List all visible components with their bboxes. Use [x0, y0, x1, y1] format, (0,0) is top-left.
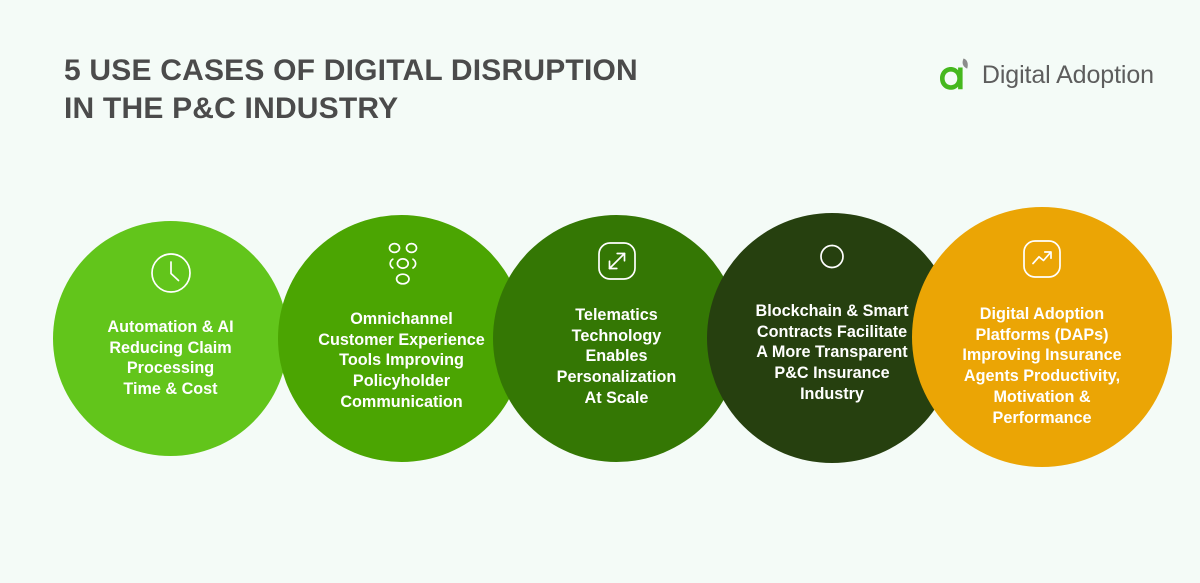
use-case-label-line: Agents Productivity, — [962, 366, 1121, 387]
expand-arrows-icon — [595, 239, 639, 288]
use-case-label-line: At Scale — [557, 388, 677, 409]
use-case-label-line: Platforms (DAPs) — [962, 325, 1121, 346]
use-case-label-5: Digital Adoption Platforms (DAPs) Improv… — [962, 304, 1121, 428]
use-case-label-line: Reducing Claim — [107, 338, 233, 359]
people-group-icon — [378, 241, 426, 292]
use-case-label-line: Customer Experience — [318, 330, 484, 351]
use-case-label-2: Omnichannel Customer Experience Tools Im… — [318, 309, 484, 413]
use-case-label-line: Automation & AI — [107, 317, 233, 338]
use-case-label-line: Time & Cost — [107, 379, 233, 400]
use-case-label-line: Performance — [962, 408, 1121, 429]
use-case-circle-1[interactable]: Automation & AI Reducing Claim Processin… — [53, 221, 288, 456]
use-case-circle-3[interactable]: Telematics Technology Enables Personaliz… — [493, 215, 740, 462]
use-case-label-line: Enables — [557, 346, 677, 367]
use-case-label-line: Policyholder — [318, 371, 484, 392]
use-case-label-line: Improving Insurance — [962, 345, 1121, 366]
use-case-label-line: Blockchain & Smart — [756, 301, 909, 322]
clock-icon — [149, 251, 193, 300]
use-case-label-line: Telematics — [557, 305, 677, 326]
use-case-label-line: Technology — [557, 326, 677, 347]
use-case-label-line: Personalization — [557, 367, 677, 388]
use-case-label-4: Blockchain & Smart Contracts Facilitate … — [756, 301, 909, 405]
infographic-page: 5 Use Cases Of Digital Disruption In The… — [0, 0, 1200, 583]
use-case-circle-5[interactable]: Digital Adoption Platforms (DAPs) Improv… — [912, 207, 1172, 467]
use-case-label-line: Communication — [318, 392, 484, 413]
use-case-label-line: Processing — [107, 358, 233, 379]
use-case-label-line: Industry — [756, 384, 909, 405]
use-case-circle-2[interactable]: Omnichannel Customer Experience Tools Im… — [278, 215, 525, 462]
use-case-label-line: Omnichannel — [318, 309, 484, 330]
use-case-label-3: Telematics Technology Enables Personaliz… — [557, 305, 677, 409]
chain-links-icon — [807, 236, 857, 283]
trending-up-icon — [1020, 237, 1064, 286]
use-case-label-line: Tools Improving — [318, 350, 484, 371]
use-case-label-line: Digital Adoption — [962, 304, 1121, 325]
use-case-circles: Automation & AI Reducing Claim Processin… — [0, 0, 1200, 583]
use-case-label-line: Contracts Facilitate — [756, 322, 909, 343]
use-case-label-line: P&C Insurance — [756, 363, 909, 384]
use-case-label-line: Motivation & — [962, 387, 1121, 408]
use-case-label-line: A More Transparent — [756, 342, 909, 363]
use-case-label-1: Automation & AI Reducing Claim Processin… — [107, 317, 233, 400]
